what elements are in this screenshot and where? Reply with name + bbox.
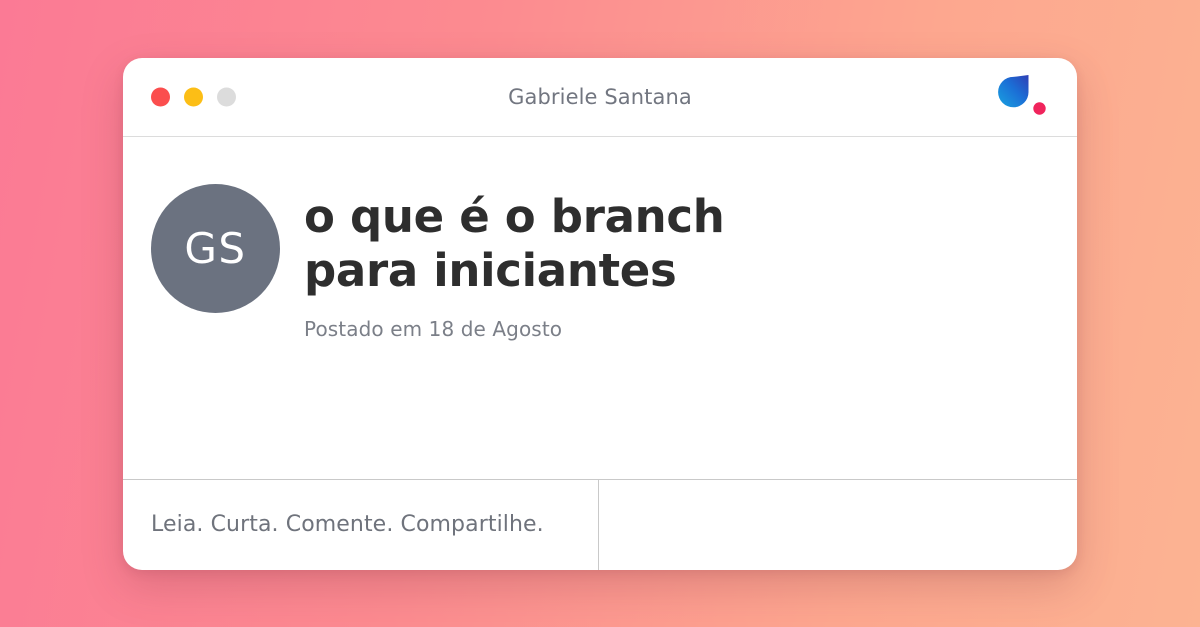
minimize-button[interactable] [184, 87, 203, 106]
post-title: o que é o branch para iniciantes [304, 190, 824, 299]
window-footer: Leia. Curta. Comente. Compartilhe. [123, 479, 1077, 570]
post-content: GS o que é o branch para iniciantes Post… [123, 137, 1077, 479]
footer-tagline: Leia. Curta. Comente. Compartilhe. [151, 512, 544, 537]
avatar: GS [151, 184, 280, 313]
post-date: Postado em 18 de Agosto [304, 317, 1047, 341]
browser-window-card: Gabriele Santana GS o que é o branch par… [123, 58, 1077, 570]
footer-left-cell: Leia. Curta. Comente. Compartilhe. [123, 480, 599, 570]
footer-right-cell [599, 480, 1077, 570]
post-text-block: o que é o branch para iniciantes Postado… [304, 184, 1047, 342]
window-title: Gabriele Santana [123, 85, 1077, 109]
droplet-logo-icon [995, 72, 1051, 122]
window-titlebar: Gabriele Santana [123, 58, 1077, 137]
maximize-button[interactable] [217, 87, 236, 106]
window-controls [151, 87, 236, 106]
close-button[interactable] [151, 87, 170, 106]
